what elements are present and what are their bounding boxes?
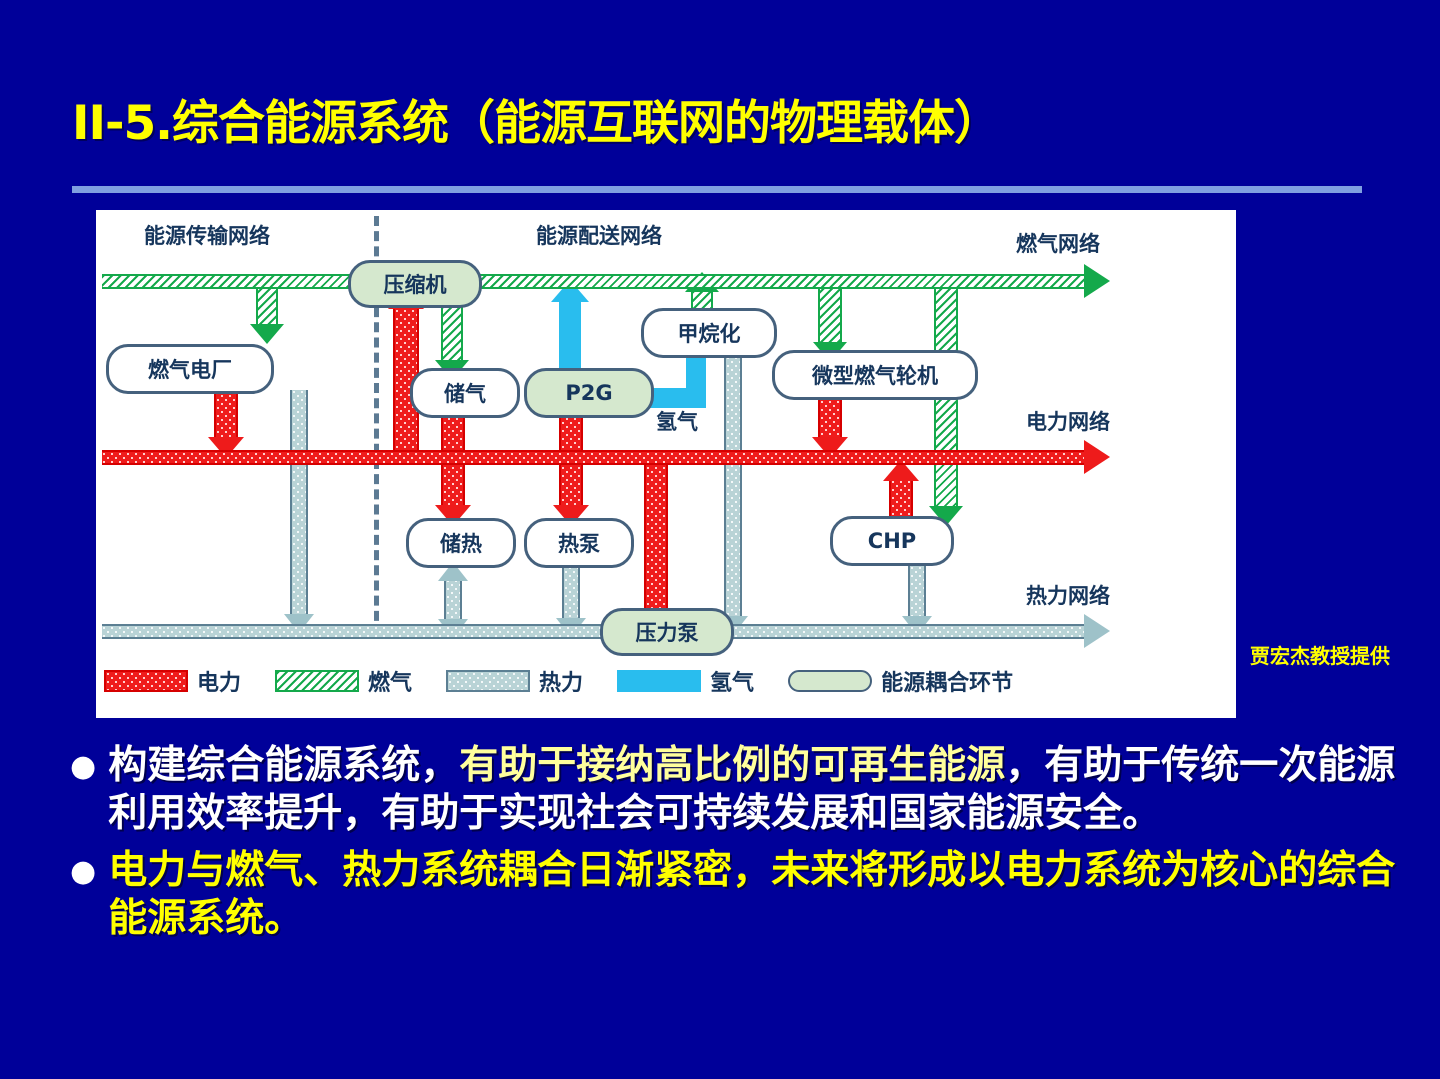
attribution-text: 贾宏杰教授提供 [1250,640,1390,669]
gas-network-bus [102,274,1084,289]
node-gas-storage[interactable]: 储气 [410,368,520,418]
arrow-gas-plant-to-heat [290,390,308,635]
diagram-legend: 电力 燃气 热力 氢气 能源耦合环节 [104,658,1224,704]
legend-swatch-heat [446,670,530,692]
legend-swatch-coupling [788,670,872,692]
bullet-text-2: 电力与燃气、热力系统耦合日渐紧密，未来将形成以电力系统为核心的综合能源系统。 [108,847,1400,942]
heat-network-bus [102,624,1084,639]
legend-label-hydrogen: 氢气 [710,665,754,697]
section-header-transmission: 能源传输网络 [144,220,270,250]
bullet-list: ● 构建综合能源系统，有助于接纳高比例的可再生能源，有助于传统一次能源利用效率提… [70,742,1400,952]
legend-item-heat: 热力 [446,665,583,697]
bullet-marker-1: ● [70,752,96,837]
arrow-gas-plant-to-power [214,390,238,458]
node-p2g[interactable]: P2G [524,368,654,418]
legend-label-gas: 燃气 [368,665,412,697]
arrow-gas-to-chp [934,276,958,526]
node-heat-storage[interactable]: 储热 [406,518,516,568]
node-heat-pump[interactable]: 热泵 [524,518,634,568]
power-network-bus [102,450,1084,465]
arrow-methanation-to-heat [724,356,742,634]
network-label-power: 电力网络 [1026,406,1110,436]
legend-item-electricity: 电力 [104,665,241,697]
bullet-text-1: 构建综合能源系统，有助于接纳高比例的可再生能源，有助于传统一次能源利用效率提升，… [108,742,1400,837]
network-label-gas: 燃气网络 [1016,228,1100,258]
arrow-power-to-heat-storage [441,458,465,526]
network-label-heat: 热力网络 [1026,580,1110,610]
node-methanation[interactable]: 甲烷化 [641,308,777,358]
legend-swatch-electricity [104,670,188,692]
legend-label-heat: 热力 [539,665,583,697]
legend-swatch-hydrogen [617,670,701,692]
bullet-marker-2: ● [70,857,96,942]
arrow-microturbine-to-power [818,392,842,458]
bullet-1-part1: 构建综合能源系统， [108,743,459,788]
node-micro-gas-turbine[interactable]: 微型燃气轮机 [772,350,978,400]
legend-item-coupling: 能源耦合环节 [788,665,1013,697]
page-title: II-5.综合能源系统（能源互联网的物理载体） [72,96,1252,151]
arrow-power-to-compressor [393,288,419,458]
node-pressure-pump[interactable]: 压力泵 [600,608,734,656]
hydrogen-flow-label: 氢气 [656,406,698,436]
section-header-distribution: 能源配送网络 [536,220,662,250]
node-gas-power-plant[interactable]: 燃气电厂 [106,344,274,394]
bullet-item-1: ● 构建综合能源系统，有助于接纳高比例的可再生能源，有助于传统一次能源利用效率提… [70,742,1400,837]
bullet-item-2: ● 电力与燃气、热力系统耦合日渐紧密，未来将形成以电力系统为核心的综合能源系统。 [70,847,1400,942]
legend-item-gas: 燃气 [275,665,412,697]
legend-label-coupling: 能源耦合环节 [881,665,1013,697]
bullet-1-highlight: 有助于接纳高比例的可再生能源 [459,743,1005,788]
legend-item-hydrogen: 氢气 [617,665,754,697]
title-divider-rule [72,186,1362,193]
arrow-power-to-heat-pump [559,458,583,526]
node-chp[interactable]: CHP [830,516,954,566]
legend-label-electricity: 电力 [197,665,241,697]
legend-swatch-gas [275,670,359,692]
energy-system-diagram: 能源传输网络 能源配送网络 燃气网络 电力网络 热力网络 氢气 [96,210,1236,718]
node-compressor[interactable]: 压缩机 [348,260,482,308]
